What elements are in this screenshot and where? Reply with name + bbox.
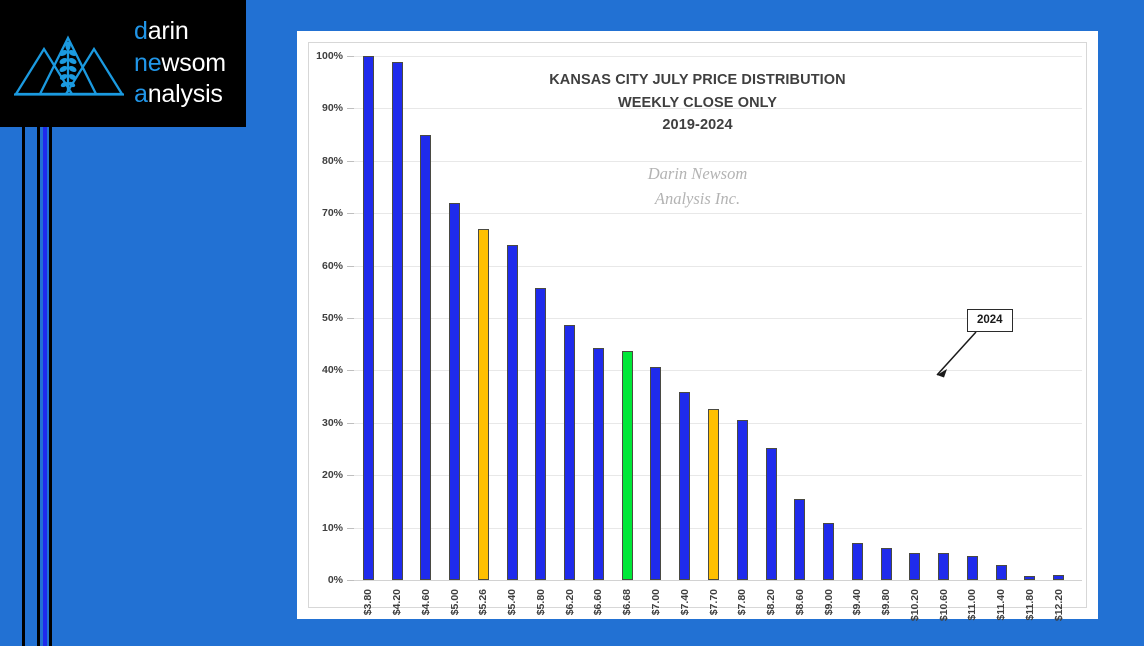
bar-380[interactable] <box>363 56 374 580</box>
x-axis-label: $6.60 <box>592 589 604 615</box>
y-axis-label: 10% <box>322 522 343 534</box>
gridline <box>354 108 1082 109</box>
x-axis-label: $5.80 <box>535 589 547 615</box>
bar-1180[interactable] <box>1024 576 1035 580</box>
x-axis-label: $12.20 <box>1053 589 1065 621</box>
x-axis-label: $3.80 <box>362 589 374 615</box>
x-axis-label: $9.00 <box>823 589 835 615</box>
x-axis-label: $7.00 <box>650 589 662 615</box>
bar-820[interactable] <box>766 448 777 580</box>
bar-420[interactable] <box>392 62 403 580</box>
x-axis-label: $8.20 <box>765 589 777 615</box>
x-axis-label: $10.60 <box>938 589 950 621</box>
x-axis-label: $11.00 <box>966 589 978 621</box>
x-axis-label: $9.80 <box>880 589 892 615</box>
plot-area: 0%10%20%30%40%50%60%70%80%90%100%$3.80$4… <box>354 56 1073 580</box>
brand-wordmark: darin newsom analysis <box>134 16 226 111</box>
chart-card: KANSAS CITY JULY PRICE DISTRIBUTION WEEK… <box>297 31 1098 619</box>
chart-plot-frame: KANSAS CITY JULY PRICE DISTRIBUTION WEEK… <box>308 42 1087 608</box>
bar-500[interactable] <box>449 203 460 580</box>
y-axis-label: 50% <box>322 312 343 324</box>
bar-580[interactable] <box>535 288 546 580</box>
bar-660[interactable] <box>593 348 604 580</box>
y-axis-label: 0% <box>328 574 343 586</box>
y-axis-tick <box>347 370 354 371</box>
bar-1100[interactable] <box>967 556 978 580</box>
x-axis-label: $5.40 <box>506 589 518 615</box>
bar-770[interactable] <box>708 409 719 580</box>
x-axis-label: $5.26 <box>477 589 489 615</box>
annotation-arrow <box>929 329 979 385</box>
y-axis-tick <box>347 475 354 476</box>
y-axis-label: 90% <box>322 102 343 114</box>
bar-860[interactable] <box>794 499 805 580</box>
brand-logo-badge[interactable]: darin newsom analysis <box>0 0 246 127</box>
y-axis-label: 40% <box>322 364 343 376</box>
x-axis-label: $7.80 <box>736 589 748 615</box>
bar-980[interactable] <box>881 548 892 580</box>
bar-668[interactable] <box>622 351 633 581</box>
bar-1060[interactable] <box>938 553 949 580</box>
x-axis-label: $9.40 <box>851 589 863 615</box>
x-axis-label: $11.40 <box>995 589 1007 621</box>
x-axis-label: $11.80 <box>1024 589 1036 621</box>
x-axis-label: $7.70 <box>708 589 720 615</box>
bar-940[interactable] <box>852 543 863 580</box>
slide-canvas: darin newsom analysis KANSAS CITY JULY P… <box>0 0 1144 646</box>
x-axis-label: $4.60 <box>420 589 432 615</box>
x-axis-label: $6.68 <box>621 589 633 615</box>
bar-460[interactable] <box>420 135 431 580</box>
annotation-label-2024: 2024 <box>967 309 1013 332</box>
y-axis-label: 30% <box>322 417 343 429</box>
y-axis-tick <box>347 161 354 162</box>
bar-540[interactable] <box>507 245 518 580</box>
y-axis-label: 100% <box>316 50 343 62</box>
bar-780[interactable] <box>737 420 748 580</box>
y-axis-tick <box>347 423 354 424</box>
bar-1220[interactable] <box>1053 575 1064 580</box>
y-axis-tick <box>347 580 354 581</box>
brand-word-analysis: analysis <box>134 79 226 111</box>
y-axis-tick <box>347 266 354 267</box>
bar-526[interactable] <box>478 229 489 580</box>
y-axis-label: 70% <box>322 207 343 219</box>
x-axis-label: $7.40 <box>679 589 691 615</box>
x-axis-label: $4.20 <box>391 589 403 615</box>
brand-word-newsom: newsom <box>134 48 226 80</box>
bar-900[interactable] <box>823 523 834 580</box>
brand-word-darin: darin <box>134 16 226 48</box>
y-axis-label: 20% <box>322 469 343 481</box>
y-axis-tick <box>347 528 354 529</box>
bar-1020[interactable] <box>909 553 920 580</box>
bar-620[interactable] <box>564 325 575 580</box>
bar-1140[interactable] <box>996 565 1007 580</box>
y-axis-tick <box>347 108 354 109</box>
x-axis-label: $8.60 <box>794 589 806 615</box>
y-axis-tick <box>347 318 354 319</box>
y-axis-label: 60% <box>322 260 343 272</box>
bar-740[interactable] <box>679 392 690 580</box>
y-axis-tick <box>347 213 354 214</box>
gridline <box>354 56 1082 57</box>
gridline <box>354 266 1082 267</box>
x-axis-label: $6.20 <box>564 589 576 615</box>
three-mountains-wheat-icon <box>10 16 128 111</box>
gridline <box>354 580 1082 581</box>
y-axis-tick <box>347 56 354 57</box>
x-axis-label: $10.20 <box>909 589 921 621</box>
y-axis-label: 80% <box>322 155 343 167</box>
bar-700[interactable] <box>650 367 661 580</box>
gridline <box>354 213 1082 214</box>
gridline <box>354 161 1082 162</box>
x-axis-label: $5.00 <box>449 589 461 615</box>
